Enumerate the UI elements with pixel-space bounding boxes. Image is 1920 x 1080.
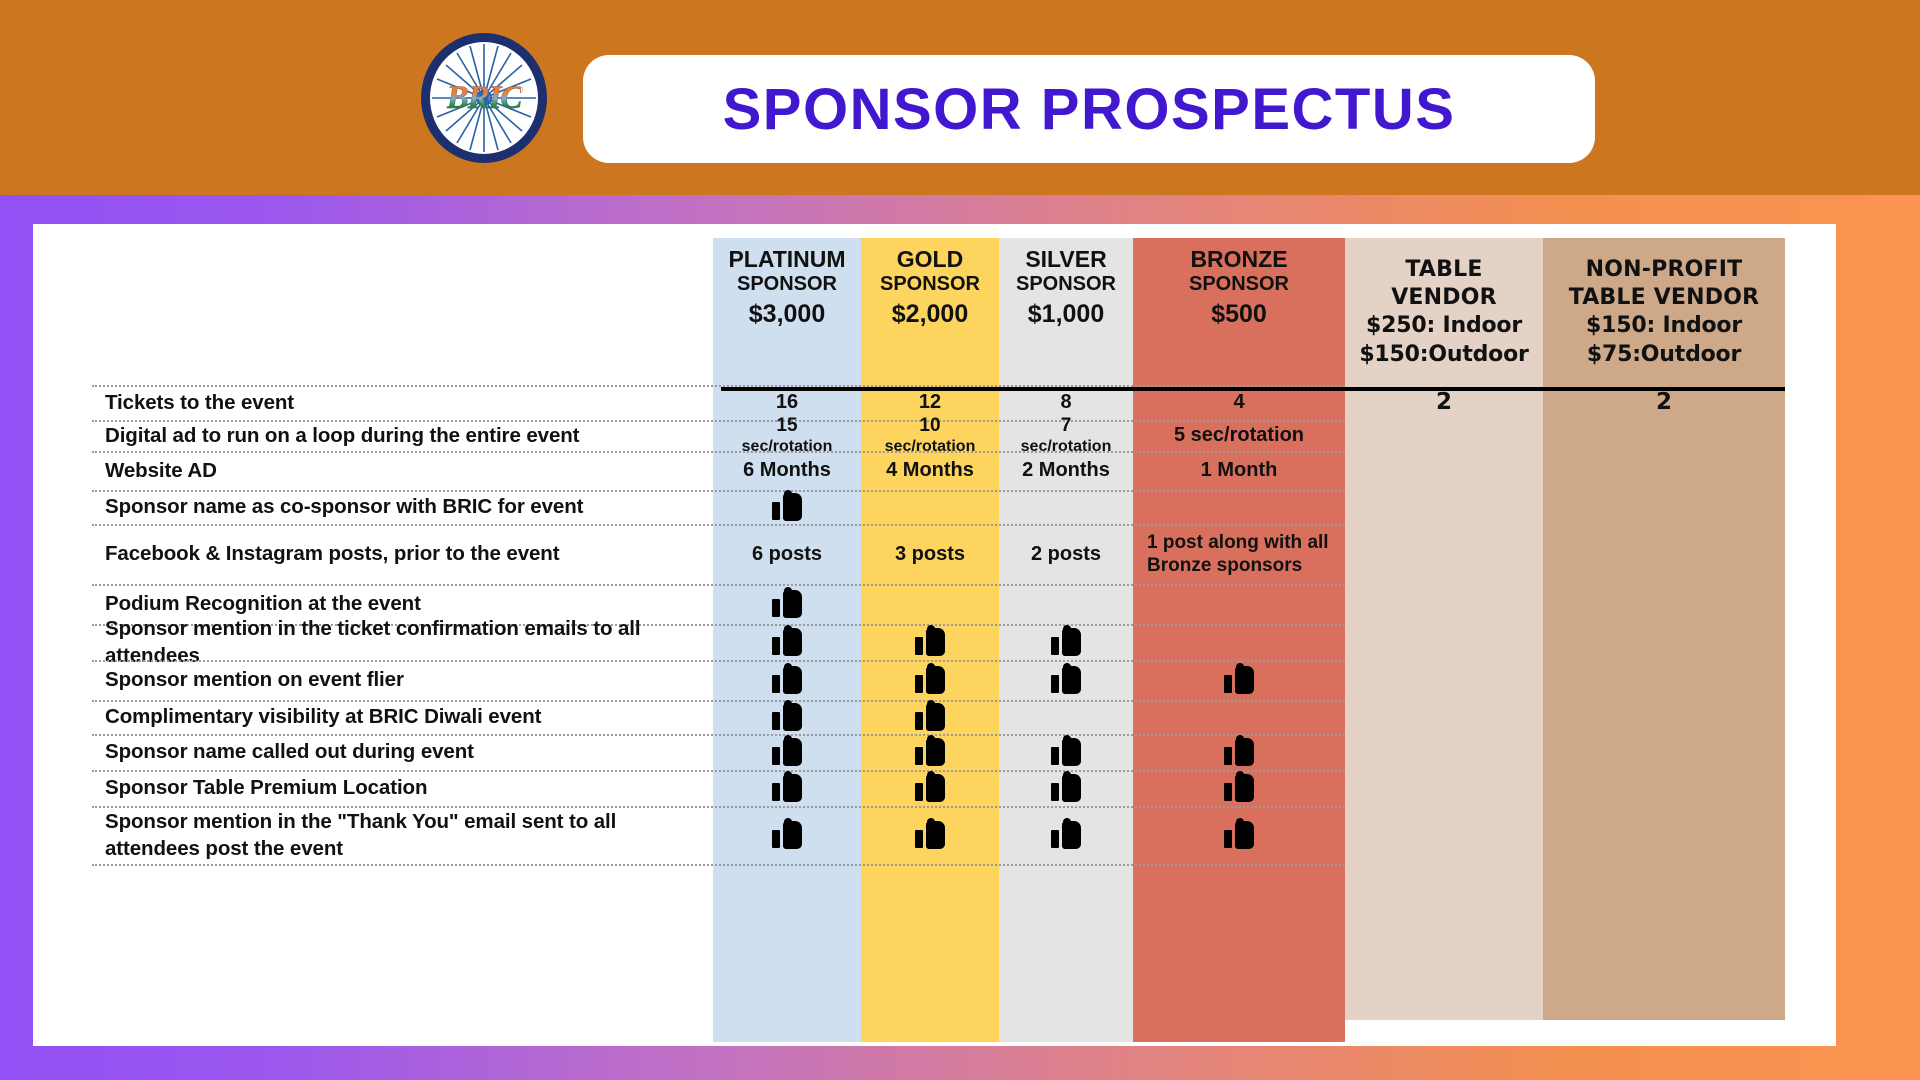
thumbs-up-icon bbox=[1051, 774, 1081, 802]
cell-gold: 3 posts bbox=[861, 524, 999, 584]
column-header-table_vendor: TABLEVENDOR$250: Indoor$150:Outdoor bbox=[1345, 246, 1543, 393]
cell-gold: 10sec/rotation bbox=[861, 420, 999, 451]
thumbs-up-icon bbox=[772, 703, 802, 731]
logo-inner: BRIC bbox=[430, 42, 538, 154]
thumbs-up-icon bbox=[1051, 821, 1081, 849]
thumbs-up-icon bbox=[1051, 738, 1081, 766]
row-label: Sponsor mention on event flier bbox=[105, 660, 705, 700]
thumbs-up-icon bbox=[915, 738, 945, 766]
row-separator bbox=[92, 864, 1345, 866]
cell-line: 10 bbox=[919, 414, 940, 437]
header-line-1: NON-PROFIT bbox=[1586, 256, 1743, 284]
cell-platinum bbox=[713, 624, 861, 660]
bric-logo: BRIC bbox=[421, 33, 547, 163]
column-header-silver: SILVERSPONSOR$1,000 bbox=[999, 240, 1133, 387]
cell-line: 15 bbox=[776, 414, 797, 437]
thumbs-up-icon bbox=[1051, 628, 1081, 656]
row-label: Website AD bbox=[105, 451, 705, 490]
column-header-bronze: BRONZESPONSOR$500 bbox=[1133, 240, 1345, 387]
thumbs-up-icon bbox=[915, 666, 945, 694]
header-line-2: VENDOR bbox=[1391, 284, 1497, 312]
thumbs-up-icon bbox=[772, 774, 802, 802]
thumbs-up-icon bbox=[772, 628, 802, 656]
cell-bronze: 4 bbox=[1133, 385, 1345, 420]
column-header-nonprofit_vendor: NON-PROFITTABLE VENDOR$150: Indoor$75:Ou… bbox=[1543, 246, 1785, 393]
row-label: Sponsor name as co-sponsor with BRIC for… bbox=[105, 490, 705, 524]
cell-platinum: 15sec/rotation bbox=[713, 420, 861, 451]
cell-bronze bbox=[1133, 806, 1345, 864]
sponsor-benefits-table: PLATINUMSPONSOR$3,000GOLDSPONSOR$2,000SI… bbox=[33, 224, 1836, 1046]
header-tier: GOLD bbox=[897, 246, 963, 273]
thumbs-up-icon bbox=[915, 703, 945, 731]
column-header-platinum: PLATINUMSPONSOR$3,000 bbox=[713, 240, 861, 387]
cell-gold bbox=[861, 660, 999, 700]
cell-gold bbox=[861, 734, 999, 770]
thumbs-up-icon bbox=[915, 821, 945, 849]
header-tier: SILVER bbox=[1025, 246, 1106, 273]
cell-platinum bbox=[713, 770, 861, 806]
cell-platinum bbox=[713, 584, 861, 624]
thumbs-up-icon bbox=[772, 738, 802, 766]
cell-platinum bbox=[713, 660, 861, 700]
header-sub: SPONSOR bbox=[1189, 273, 1289, 297]
content-card: PLATINUMSPONSOR$3,000GOLDSPONSOR$2,000SI… bbox=[33, 224, 1836, 1046]
cell-platinum bbox=[713, 700, 861, 734]
header-sub: SPONSOR bbox=[1016, 273, 1116, 297]
sponsor-prospectus-page: BRIC SPONSOR PROSPECTUS PLATINUMSPONSOR$… bbox=[0, 0, 1920, 1080]
cell-table_vendor: 2 bbox=[1345, 385, 1543, 420]
row-label: Facebook & Instagram posts, prior to the… bbox=[105, 524, 705, 584]
cell-platinum: 6 Months bbox=[713, 451, 861, 490]
cell-bronze: 1 Month bbox=[1133, 451, 1345, 490]
cell-gold bbox=[861, 806, 999, 864]
cell-line: 7 bbox=[1061, 414, 1072, 437]
cell-nonprofit_vendor: 2 bbox=[1543, 385, 1785, 420]
cell-silver bbox=[999, 806, 1133, 864]
cell-platinum: 6 posts bbox=[713, 524, 861, 584]
row-label: Sponsor mention in the "Thank You" email… bbox=[105, 806, 705, 864]
thumbs-up-icon bbox=[772, 821, 802, 849]
cell-gold bbox=[861, 700, 999, 734]
cell-silver bbox=[999, 770, 1133, 806]
row-label: Sponsor mention in the ticket confirmati… bbox=[105, 624, 705, 660]
cell-platinum bbox=[713, 734, 861, 770]
cell-gold: 4 Months bbox=[861, 451, 999, 490]
header-line-3: $150: Indoor bbox=[1586, 312, 1742, 341]
column-header-gold: GOLDSPONSOR$2,000 bbox=[861, 240, 999, 387]
thumbs-up-icon bbox=[1224, 821, 1254, 849]
header-sub: SPONSOR bbox=[880, 273, 980, 297]
header-band: BRIC SPONSOR PROSPECTUS bbox=[0, 0, 1920, 195]
header-tier: PLATINUM bbox=[728, 246, 845, 273]
title-pill: SPONSOR PROSPECTUS bbox=[583, 55, 1595, 163]
thumbs-up-icon bbox=[915, 628, 945, 656]
header-line-2: TABLE VENDOR bbox=[1569, 284, 1760, 312]
cell-gold bbox=[861, 770, 999, 806]
cell-bronze bbox=[1133, 734, 1345, 770]
cell-gold bbox=[861, 624, 999, 660]
thumbs-up-icon bbox=[1051, 666, 1081, 694]
thumbs-up-icon bbox=[915, 774, 945, 802]
header-line-3: $250: Indoor bbox=[1366, 312, 1522, 341]
cell-silver bbox=[999, 734, 1133, 770]
header-price: $1,000 bbox=[1028, 299, 1104, 330]
row-label: Sponsor Table Premium Location bbox=[105, 770, 705, 806]
header-price: $500 bbox=[1211, 299, 1267, 330]
thumbs-up-icon bbox=[1224, 774, 1254, 802]
row-label: Tickets to the event bbox=[105, 385, 705, 420]
thumbs-up-icon bbox=[772, 590, 802, 618]
header-price: $3,000 bbox=[749, 299, 825, 330]
cell-silver: 2 posts bbox=[999, 524, 1133, 584]
cell-bronze: 5 sec/rotation bbox=[1133, 420, 1345, 451]
cell-bronze bbox=[1133, 770, 1345, 806]
cell-silver bbox=[999, 624, 1133, 660]
thumbs-up-icon bbox=[772, 493, 802, 521]
row-label: Digital ad to run on a loop during the e… bbox=[105, 420, 705, 451]
logo-label: BRIC bbox=[447, 80, 522, 117]
thumbs-up-icon bbox=[772, 666, 802, 694]
cell-silver: 7sec/rotation bbox=[999, 420, 1133, 451]
header-line-4: $75:Outdoor bbox=[1587, 341, 1741, 370]
header-line-4: $150:Outdoor bbox=[1359, 341, 1528, 370]
header-price: $2,000 bbox=[892, 299, 968, 330]
thumbs-up-icon bbox=[1224, 666, 1254, 694]
header-tier: BRONZE bbox=[1190, 246, 1287, 273]
cell-bronze: 1 post along with all Bronze sponsors bbox=[1133, 524, 1345, 584]
row-label: Complimentary visibility at BRIC Diwali … bbox=[105, 700, 705, 734]
header-sub: SPONSOR bbox=[737, 273, 837, 297]
header-line-1: TABLE bbox=[1405, 256, 1482, 284]
thumbs-up-icon bbox=[1224, 738, 1254, 766]
cell-platinum bbox=[713, 490, 861, 524]
cell-platinum bbox=[713, 806, 861, 864]
row-label: Sponsor name called out during event bbox=[105, 734, 705, 770]
cell-bronze bbox=[1133, 660, 1345, 700]
cell-silver bbox=[999, 660, 1133, 700]
cell-silver: 2 Months bbox=[999, 451, 1133, 490]
page-title: SPONSOR PROSPECTUS bbox=[723, 76, 1456, 143]
